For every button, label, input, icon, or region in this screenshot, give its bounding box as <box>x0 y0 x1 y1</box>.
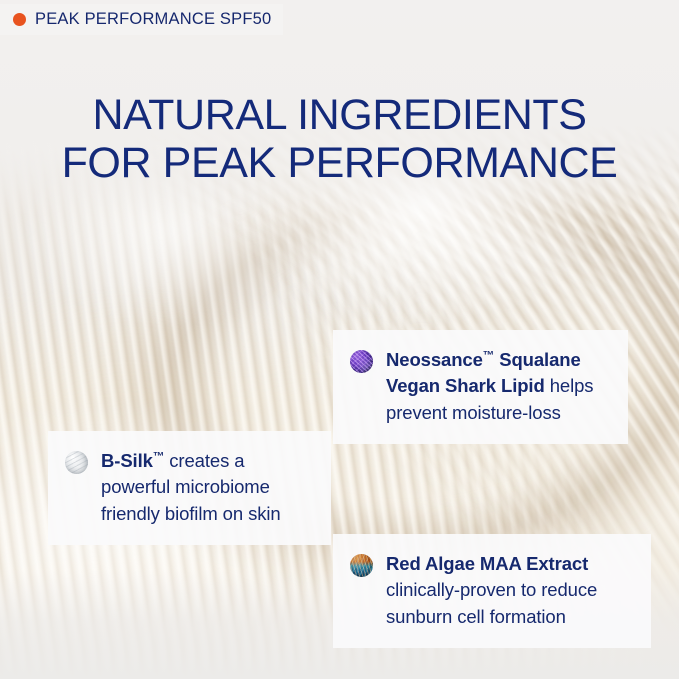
trademark-symbol: ™ <box>153 451 164 463</box>
headline-line-1: NATURAL INGREDIENTS <box>20 91 660 139</box>
ingredient-card-text: Neossance™ Squalane Vegan Shark Lipid he… <box>386 347 610 426</box>
ingredient-name: B-Silk™ <box>101 450 164 471</box>
filled-circle-icon <box>13 13 26 26</box>
ingredient-card-text: B-Silk™ creates a powerful microbiome fr… <box>101 448 313 527</box>
product-ingredient-infographic: PEAK PERFORMANCE SPF50 NATURAL INGREDIEN… <box>0 0 679 679</box>
ingredient-name: Red Algae MAA Extract <box>386 553 588 574</box>
eyebrow-label: PEAK PERFORMANCE SPF50 <box>35 10 271 29</box>
squalane-molecule-icon <box>350 350 373 373</box>
ingredient-card-neossance: Neossance™ Squalane Vegan Shark Lipid he… <box>333 330 628 444</box>
page-title: NATURAL INGREDIENTS FOR PEAK PERFORMANCE <box>20 91 660 187</box>
ingredient-card-text: Red Algae MAA Extract clinically-proven … <box>386 551 633 630</box>
red-algae-icon <box>350 554 373 577</box>
headline-line-2: FOR PEAK PERFORMANCE <box>20 139 660 187</box>
ingredient-benefit: clinically-proven to reduce sunburn cell… <box>386 579 597 626</box>
ingredient-card-bsilk: B-Silk™ creates a powerful microbiome fr… <box>48 431 331 545</box>
eyebrow-badge: PEAK PERFORMANCE SPF50 <box>0 4 283 35</box>
trademark-symbol: ™ <box>483 350 494 362</box>
silk-protein-icon <box>65 451 88 474</box>
ingredient-card-redalgae: Red Algae MAA Extract clinically-proven … <box>333 534 651 648</box>
